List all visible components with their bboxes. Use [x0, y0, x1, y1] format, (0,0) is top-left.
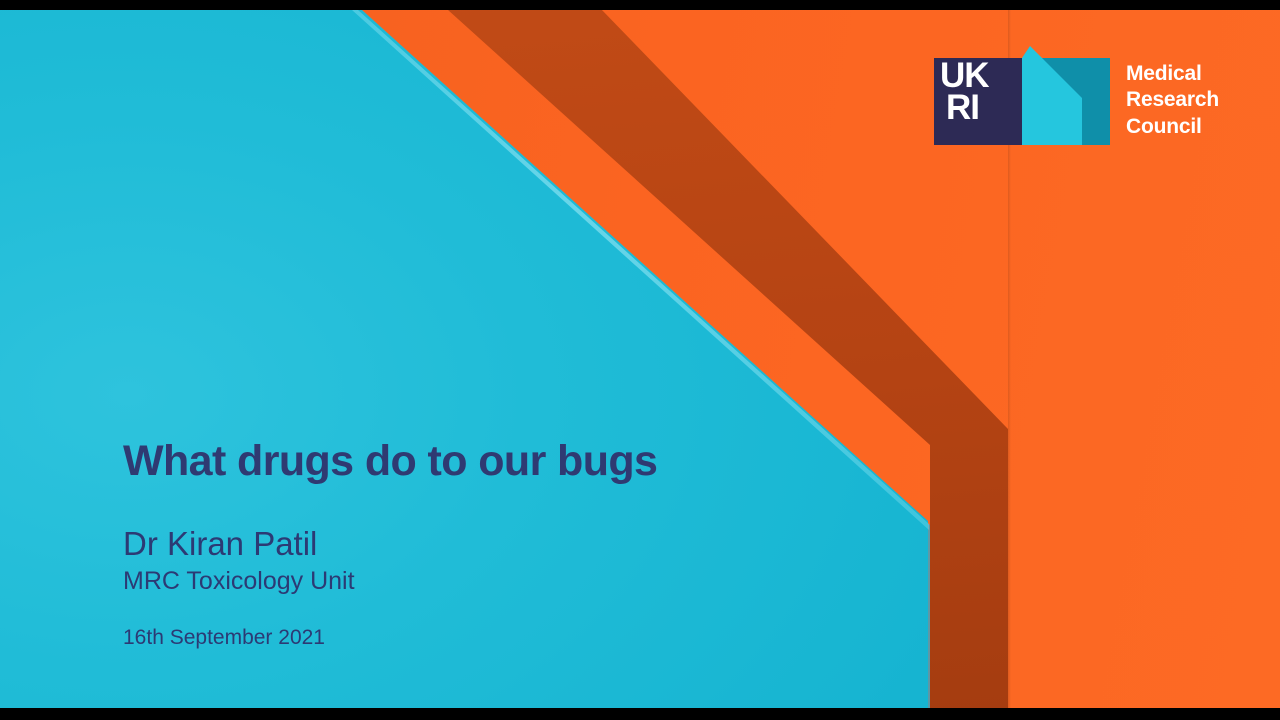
ukri-mrc-logo: UK RI Medical Research Council — [934, 46, 1234, 146]
title-text-block: What drugs do to our bugs Dr Kiran Patil… — [123, 438, 657, 650]
presenter-affiliation: MRC Toxicology Unit — [123, 567, 657, 596]
presentation-slide: What drugs do to our bugs Dr Kiran Patil… — [0, 0, 1280, 720]
ukri-logo-mark-icon: UK RI — [934, 46, 1110, 145]
logo-text-line-1: Medical — [1126, 61, 1219, 87]
letterbox-bar-bottom — [0, 708, 1280, 720]
ukri-wordmark-line-2: RI — [946, 92, 1018, 124]
slide-date: 16th September 2021 — [123, 626, 657, 650]
letterbox-bar-top — [0, 0, 1280, 10]
page-title: What drugs do to our bugs — [123, 438, 657, 484]
ukri-house-icon — [1022, 46, 1110, 145]
logo-text-line-2: Research — [1126, 87, 1219, 113]
medical-research-council-wordmark: Medical Research Council — [1126, 61, 1219, 140]
ukri-wordmark: UK RI — [940, 60, 1018, 132]
presenter-name: Dr Kiran Patil — [123, 526, 657, 563]
logo-text-line-3: Council — [1126, 114, 1219, 140]
